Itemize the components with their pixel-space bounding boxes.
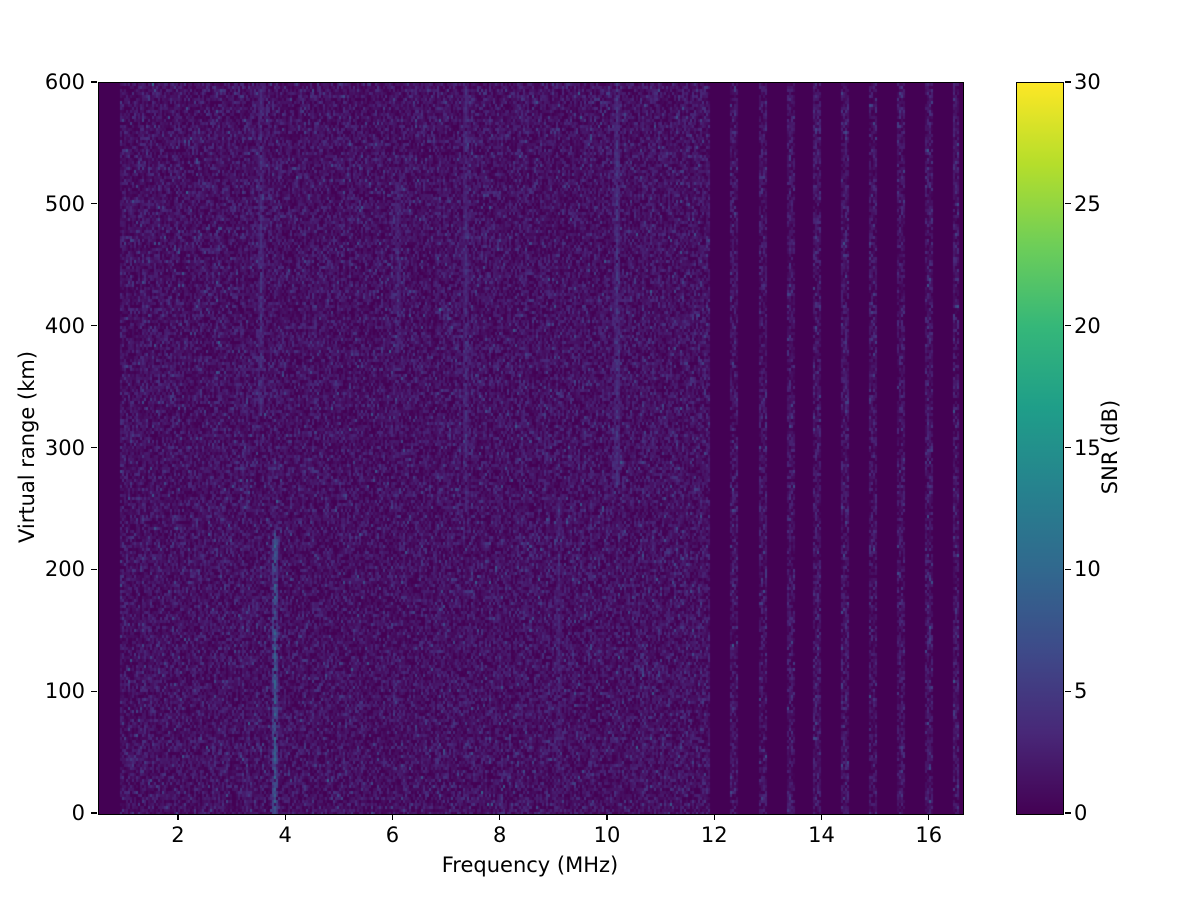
- y-tick-label: 600: [45, 70, 85, 94]
- colorbar-tick-label: 0: [1074, 801, 1087, 825]
- heatmap-plot-area[interactable]: [98, 82, 964, 815]
- x-tick-label: 14: [808, 823, 835, 847]
- x-tick-label: 2: [171, 823, 184, 847]
- colorbar-tick-label: 25: [1074, 192, 1101, 216]
- y-tick-mark: [91, 447, 97, 448]
- x-tick-mark: [606, 814, 607, 820]
- y-tick-label: 100: [45, 679, 85, 703]
- x-tick-mark: [177, 814, 178, 820]
- y-tick-mark: [91, 569, 97, 570]
- x-tick-mark: [714, 814, 715, 820]
- colorbar-tick-mark: [1065, 691, 1071, 692]
- x-tick-label: 8: [493, 823, 506, 847]
- y-tick-label: 0: [72, 801, 85, 825]
- y-tick-label: 400: [45, 314, 85, 338]
- x-tick-label: 16: [915, 823, 942, 847]
- y-axis-label: Virtual range (km): [15, 351, 39, 543]
- y-tick-mark: [91, 325, 97, 326]
- colorbar-tick-mark: [1065, 569, 1071, 570]
- colorbar-tick-mark: [1065, 325, 1071, 326]
- y-tick-mark: [91, 691, 97, 692]
- x-tick-label: 4: [278, 823, 291, 847]
- colorbar-label: SNR (dB): [1098, 400, 1122, 494]
- y-tick-label: 300: [45, 436, 85, 460]
- y-tick-mark: [91, 81, 97, 82]
- x-tick-mark: [499, 814, 500, 820]
- ionogram-figure: IRF Kiruna Ionosonde KI167 2025-12-07 22…: [0, 0, 1200, 900]
- x-tick-mark: [928, 814, 929, 820]
- x-tick-mark: [392, 814, 393, 820]
- x-tick-label: 12: [701, 823, 728, 847]
- colorbar-tick-label: 30: [1074, 70, 1101, 94]
- x-tick-label: 6: [386, 823, 399, 847]
- x-tick-mark: [285, 814, 286, 820]
- colorbar-tick-label: 20: [1074, 314, 1101, 338]
- x-tick-mark: [821, 814, 822, 820]
- colorbar[interactable]: [1016, 82, 1064, 815]
- y-tick-mark: [91, 812, 97, 813]
- colorbar-tick-label: 5: [1074, 679, 1087, 703]
- colorbar-tick-mark: [1065, 812, 1071, 813]
- ionogram-heatmap: [99, 83, 963, 814]
- y-tick-label: 500: [45, 192, 85, 216]
- colorbar-tick-mark: [1065, 203, 1071, 204]
- colorbar-gradient: [1017, 83, 1063, 814]
- y-tick-label: 200: [45, 557, 85, 581]
- y-tick-mark: [91, 203, 97, 204]
- colorbar-tick-mark: [1065, 81, 1071, 82]
- x-tick-label: 10: [594, 823, 621, 847]
- colorbar-tick-label: 15: [1074, 436, 1101, 460]
- colorbar-tick-mark: [1065, 447, 1071, 448]
- x-axis-label: Frequency (MHz): [98, 853, 962, 877]
- colorbar-tick-label: 10: [1074, 557, 1101, 581]
